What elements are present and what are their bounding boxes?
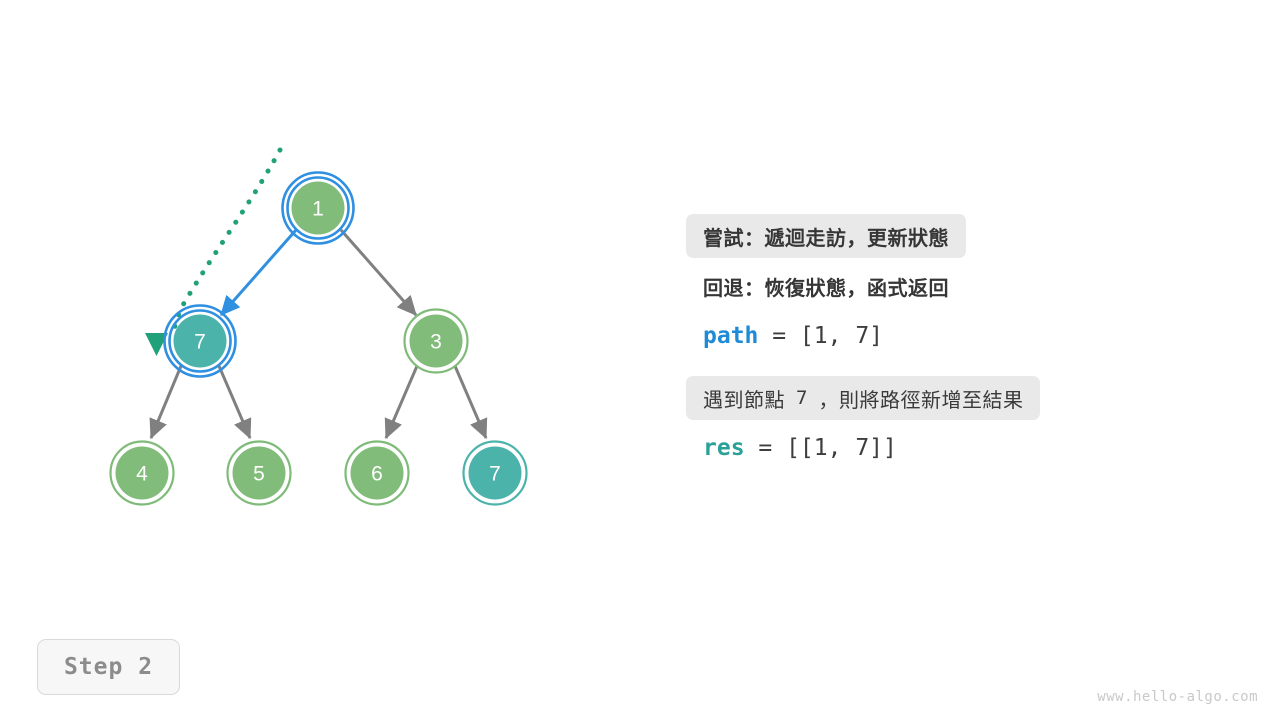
path-variable-row: path = [1, 7] [686,314,1246,358]
edge-7-to-4 [151,366,181,438]
tree-node-3[interactable]: 3 [405,310,468,373]
node-6-label: 6 [371,463,383,486]
node-5-label: 5 [253,463,265,486]
res-variable-name: res [703,435,745,461]
tree-diagram: 1 7 3 4 5 6 [0,0,640,720]
path-variable-name: path [703,323,758,349]
tree-node-7-left[interactable]: 7 [165,306,236,377]
annotation-row-backtrack: 回退：恢復狀態，函式返回 [686,264,1246,308]
tree-node-5[interactable]: 5 [228,442,291,505]
annotation-row-found: 遇到節點 7 ，則將路徑新增至結果 [686,376,1246,420]
path-variable-value: = [1, 7] [758,323,883,349]
annotation-panel: 嘗試：遞迴走訪，更新狀態 回退：恢復狀態，函式返回 path = [1, 7] … [686,214,1246,476]
node-1-label: 1 [312,198,324,221]
annotation-found-chip: 遇到節點 7 ，則將路徑新增至結果 [686,376,1040,420]
tree-node-4[interactable]: 4 [111,442,174,505]
edge-1-to-3 [341,230,416,315]
edge-3-to-7 [455,366,486,438]
res-variable-row: res = [[1, 7]] [686,426,1246,470]
annotation-backtrack-text: 回退：恢復狀態，函式返回 [686,264,966,308]
step-badge: Step 2 [37,639,180,695]
edge-7-to-5 [219,366,250,438]
node-3-label: 3 [430,331,442,354]
tree-node-1[interactable]: 1 [283,173,354,244]
res-variable-value: = [[1, 7]] [745,435,897,461]
node-7-right-label: 7 [489,463,501,486]
annotation-row-try: 嘗試：遞迴走訪，更新狀態 [686,214,1246,258]
annotation-try-text: 嘗試：遞迴走訪，更新狀態 [686,214,966,258]
watermark: www.hello-algo.com [1097,689,1258,705]
edge-3-to-6 [386,366,417,438]
annotation-found-prefix: 遇到節點 [703,384,785,413]
annotation-found-suffix: ，則將路徑新增至結果 [818,384,1023,413]
tree-nodes: 1 7 3 4 5 6 [111,173,527,505]
tree-node-6[interactable]: 6 [346,442,409,505]
node-4-label: 4 [136,463,148,486]
edge-1-to-7 [221,230,296,315]
annotation-found-value: 7 [796,387,807,409]
node-7-left-label: 7 [194,331,206,354]
tree-node-7-right[interactable]: 7 [464,442,527,505]
